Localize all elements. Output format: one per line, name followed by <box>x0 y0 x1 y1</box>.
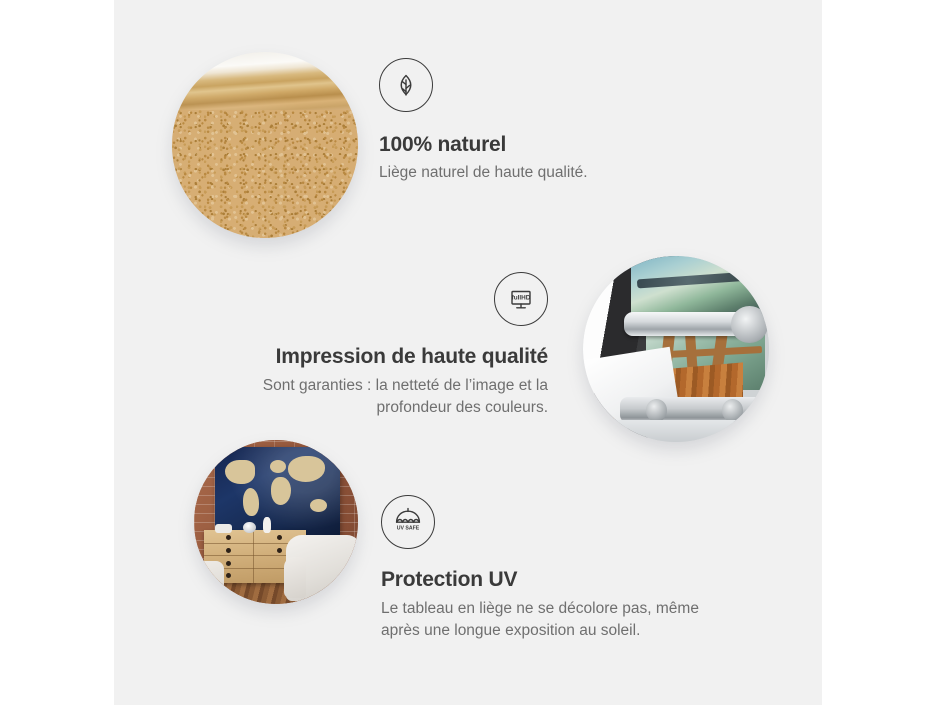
feature-print-quality: fullHD Impression de haute qualité Sont … <box>228 272 548 419</box>
fullhd-monitor-icon: fullHD <box>494 272 548 326</box>
feature-uv-protection-heading: Protection UV <box>381 568 699 592</box>
shelf-decor-box <box>215 524 231 534</box>
feature-natural: 100% naturel Liège naturel de haute qual… <box>379 58 588 184</box>
leaf-icon <box>379 58 433 112</box>
interior-world-map-photo <box>194 440 358 604</box>
product-feature-infographic: 100% naturel Liège naturel de haute qual… <box>0 0 940 705</box>
feature-print-quality-subtext-line2: profondeur des couleurs. <box>377 399 548 416</box>
feature-print-quality-heading: Impression de haute qualité <box>228 345 548 369</box>
fullhd-label: fullHD <box>512 295 531 302</box>
continent-australia <box>310 499 327 512</box>
uv-safe-umbrella-icon: UV SAFE <box>381 495 435 549</box>
printer-roller-top <box>624 312 765 336</box>
uv-safe-label: UV SAFE <box>397 526 420 532</box>
roller-knob <box>646 399 667 421</box>
roller-knob <box>722 399 743 421</box>
roller-cap <box>731 306 768 342</box>
continent-europe <box>270 460 286 473</box>
world-map-artwork <box>215 447 340 540</box>
cork-texture-photo <box>172 52 358 238</box>
white-armchair-secondary <box>194 561 224 604</box>
feature-uv-protection: UV SAFE Protection UV Le tableau en lièg… <box>381 495 699 642</box>
printing-machine-photo <box>583 256 769 442</box>
continent-north-america <box>225 460 255 484</box>
continent-south-america <box>243 488 259 516</box>
feature-uv-protection-subtext-line2: après une longue exposition au soleil. <box>381 622 640 639</box>
armchair-arm <box>284 557 307 598</box>
white-armchair <box>286 535 358 601</box>
feature-print-quality-subtext-line1: Sont garanties : la netteté de l’image e… <box>263 377 548 394</box>
printer-base <box>583 420 769 442</box>
feature-natural-heading: 100% naturel <box>379 133 588 157</box>
decor-figurine <box>263 517 271 533</box>
continent-asia <box>288 456 325 482</box>
feature-natural-subtext: Liège naturel de haute qualité. <box>379 162 588 184</box>
continent-africa <box>271 477 291 505</box>
cork-grain-layer <box>172 110 358 238</box>
feature-uv-protection-subtext-line1: Le tableau en liège ne se décolore pas, … <box>381 600 699 617</box>
